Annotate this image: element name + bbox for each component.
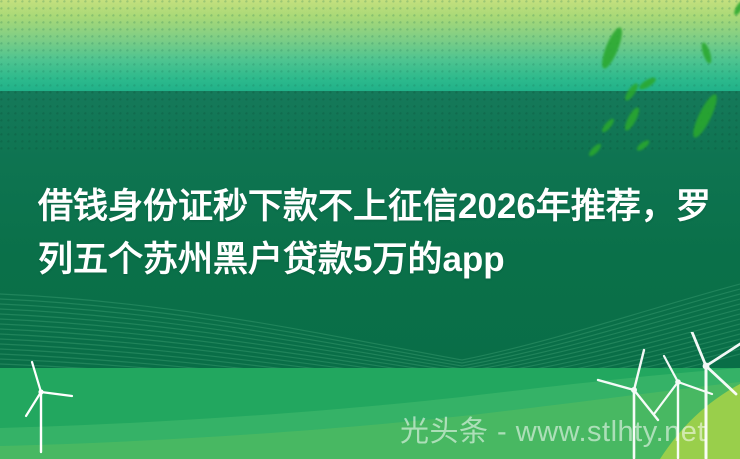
page-title: 借钱身份证秒下款不上征信2026年推荐，罗列五个苏州黑户贷款5万的app [38,180,718,286]
watermark: 光头条 - www.stlhty.net [400,408,706,450]
leaf-icon [600,117,616,134]
leaf-icon [598,25,626,70]
leaf-icon [622,106,641,133]
leaf-icon [623,82,640,102]
leaf-icon [689,92,721,140]
promo-banner: 借钱身份证秒下款不上征信2026年推荐，罗列五个苏州黑户贷款5万的app 光头条… [0,0,740,459]
falling-leaves [0,0,740,200]
leaf-icon [700,41,713,64]
leaf-icon [732,0,740,16]
leaf-icon [638,75,658,91]
wind-turbine [14,360,84,454]
leaf-icon [635,139,651,153]
leaf-icon [587,142,602,158]
